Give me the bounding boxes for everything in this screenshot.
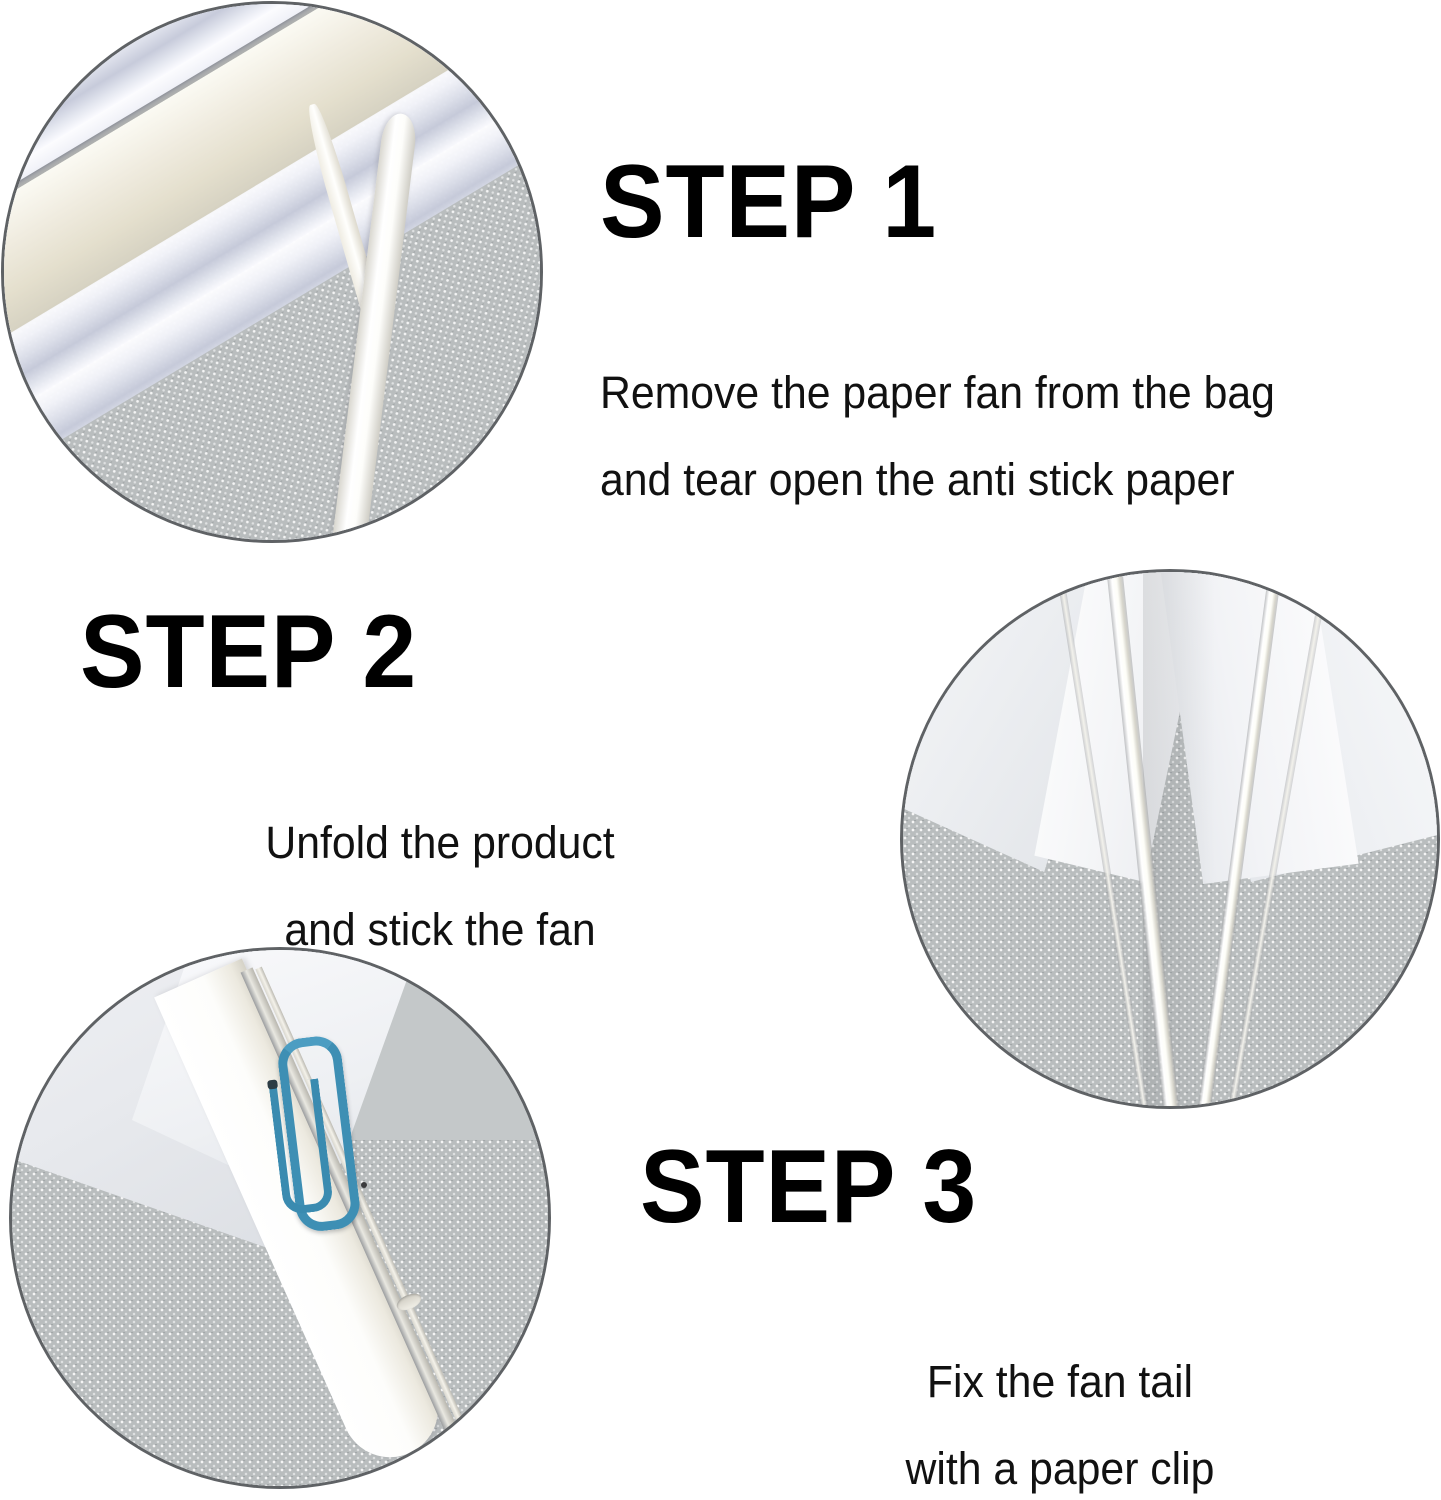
step-2-lines: Unfold the product and stick the fan bbox=[70, 820, 810, 952]
step-1-photo bbox=[4, 4, 540, 540]
step-3-line-2: with a paper clip bbox=[766, 1446, 1355, 1491]
step-1-photo-scene bbox=[4, 4, 540, 540]
step-2-line-2: and stick the fan bbox=[89, 907, 792, 952]
infographic-canvas: STEP 1 Remove the paper fan from the bag… bbox=[0, 0, 1441, 1500]
step-2-heading: STEP 2 bbox=[80, 600, 759, 704]
step-3-photo bbox=[12, 950, 548, 1486]
step-2-line-1: Unfold the product bbox=[89, 820, 792, 865]
step-3-lines: Fix the fan tail with a paper clip bbox=[750, 1359, 1370, 1491]
step-3-photo-scene bbox=[12, 950, 548, 1486]
step-1-line-2: and tear open the anti stick paper bbox=[600, 457, 1275, 502]
step-3-line-1: Fix the fan tail bbox=[766, 1359, 1355, 1404]
step-2-photo-scene bbox=[903, 572, 1437, 1106]
step-2-photo bbox=[903, 572, 1437, 1106]
fan-tail-pinhole bbox=[361, 1182, 367, 1188]
step-3-heading: STEP 3 bbox=[640, 1135, 1319, 1239]
step-3-text-block: STEP 3 Fix the fan tail with a paper cli… bbox=[640, 1135, 1370, 1491]
paper-clip-tip bbox=[267, 1079, 278, 1089]
step-1-text-block: STEP 1 Remove the paper fan from the bag… bbox=[600, 150, 1310, 502]
step-2-text-block: STEP 2 Unfold the product and stick the … bbox=[80, 600, 810, 952]
step-1-heading: STEP 1 bbox=[600, 150, 1261, 254]
step-1-line-1: Remove the paper fan from the bag bbox=[600, 370, 1275, 415]
